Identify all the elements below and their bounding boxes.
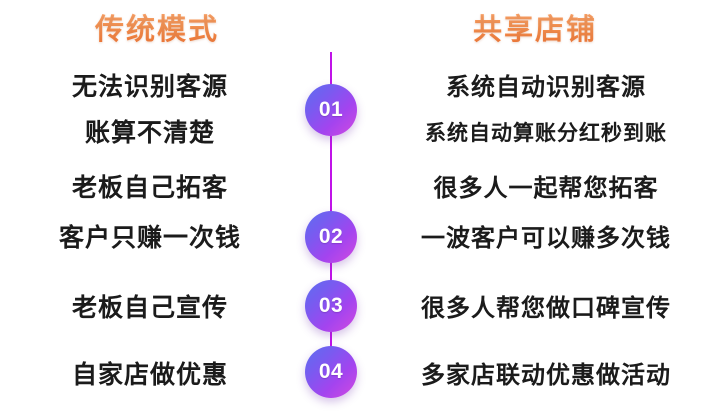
- right-item-3: 很多人一起帮您拓客: [372, 174, 720, 204]
- left-item-3: 老板自己拓客: [0, 173, 300, 203]
- comparison-infographic: 传统模式 共享店铺 01 02 03 04 无法识别客源 账算不清楚 老板自己拓…: [0, 0, 720, 412]
- timeline-badge-label: 02: [319, 225, 343, 249]
- timeline-badge-label: 04: [319, 360, 343, 384]
- right-item-2: 系统自动算账分红秒到账: [372, 119, 720, 149]
- timeline-badge-03: 03: [305, 280, 357, 332]
- left-column-title: 传统模式: [42, 13, 272, 47]
- timeline-badge-01: 01: [305, 84, 357, 136]
- right-item-4: 一波客户可以赚多次钱: [372, 224, 720, 254]
- left-item-5: 老板自己宣传: [0, 293, 300, 323]
- timeline-badge-04: 04: [305, 346, 357, 398]
- right-item-5: 很多人帮您做口碑宣传: [372, 294, 720, 324]
- timeline-badge-label: 01: [319, 98, 343, 122]
- timeline-badge-label: 03: [319, 294, 343, 318]
- right-column-title: 共享店铺: [400, 13, 670, 47]
- left-item-4: 客户只赚一次钱: [0, 223, 300, 253]
- left-item-2: 账算不清楚: [0, 118, 300, 148]
- right-item-1: 系统自动识别客源: [372, 73, 720, 103]
- timeline-badge-02: 02: [305, 211, 357, 263]
- left-item-6: 自家店做优惠: [0, 360, 300, 390]
- right-item-6: 多家店联动优惠做活动: [372, 361, 720, 391]
- left-item-1: 无法识别客源: [0, 72, 300, 102]
